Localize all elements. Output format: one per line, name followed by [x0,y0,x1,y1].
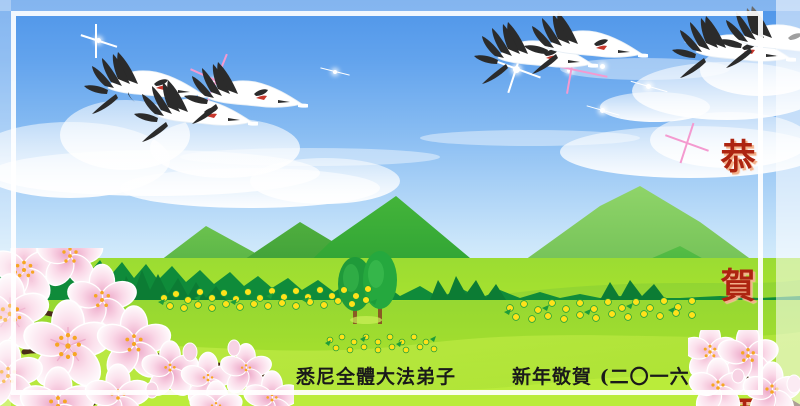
greeting-char-2: 賀 [712,265,764,308]
greeting-char-1: 恭 [712,136,764,179]
rape-flower-patch-center [320,326,450,360]
cherry-blossom-branch-right [688,330,800,406]
greeting-card: 恭 賀 師 尊 過 年 好 悉尼全體大法弟子 新年敬賀 (二〇一六) [0,0,800,406]
crane-3 [178,54,308,146]
signature-greeting-year: 新年敬賀 (二〇一六) [512,362,700,389]
crane-5 [518,4,648,96]
cherry-blossom-branch-left [0,248,294,406]
rape-flower-patch-right [500,286,700,330]
signature-sender: 悉尼全體大法弟子 [296,362,456,389]
